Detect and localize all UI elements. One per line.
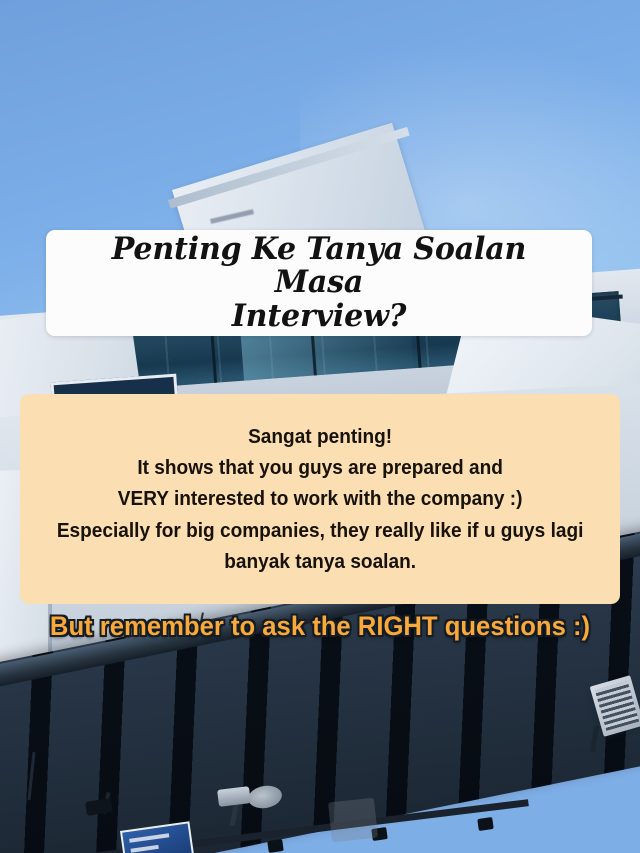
ac-grille: [595, 681, 639, 731]
title-text: Penting Ke Tanya Soalan Masa Interview?: [54, 233, 584, 333]
blue-sign-line: [129, 833, 169, 843]
title-card: Penting Ke Tanya Soalan Masa Interview?: [46, 230, 592, 336]
awning-bracket: [477, 817, 494, 831]
body-line-1: Sangat penting!: [248, 425, 392, 448]
footer-caption: But remember to ask the RIGHT questions …: [16, 612, 624, 642]
body-line-3: VERY interested to work with the company…: [118, 487, 523, 510]
blue-sign-line: [131, 845, 159, 853]
title-line-1: Penting Ke Tanya Soalan Masa: [112, 231, 526, 300]
awning-bracket: [267, 839, 284, 853]
body-line-5: banyak tanya soalan.: [224, 550, 416, 573]
body-line-4: Especially for big companies, they reall…: [57, 519, 584, 542]
title-line-2: Interview?: [232, 298, 406, 334]
wall-vent-patch: [328, 798, 378, 843]
body-line-2: It shows that you guys are prepared and: [137, 456, 503, 479]
image-canvas: Penting Ke Tanya Soalan Masa Interview? …: [0, 0, 640, 853]
body-text: Sangat penting! It shows that you guys a…: [47, 421, 592, 577]
body-card: Sangat penting! It shows that you guys a…: [20, 394, 620, 604]
